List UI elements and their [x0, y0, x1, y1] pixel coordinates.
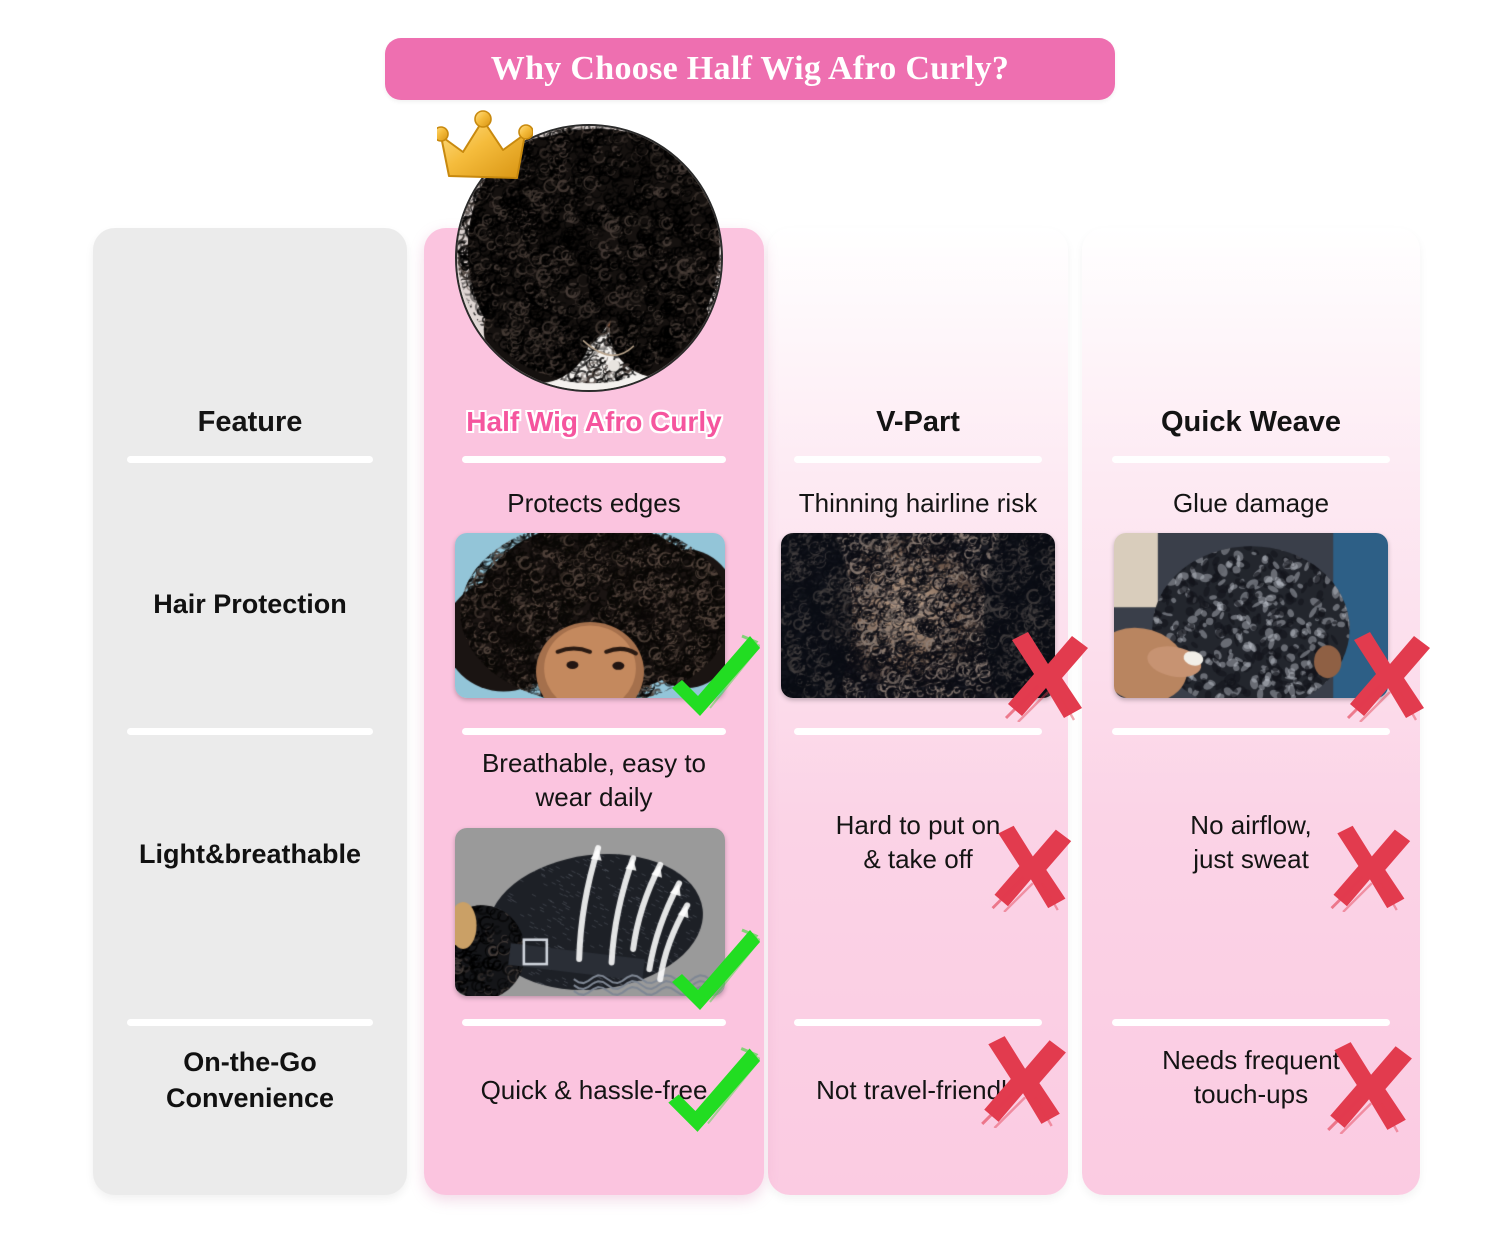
- row-label-light-breathable: Light&breathable: [93, 836, 407, 872]
- column-header-quick-weave: Quick Weave: [1082, 406, 1420, 439]
- row-separator: [462, 1019, 726, 1026]
- column-header-feature: Feature: [93, 406, 407, 439]
- check-icon: [664, 918, 760, 1014]
- check-icon: [664, 624, 760, 720]
- row-separator: [1112, 456, 1390, 463]
- row-label-on-the-go: On-the-GoConvenience: [93, 1044, 407, 1117]
- check-icon: [660, 1036, 760, 1136]
- row-separator: [1112, 728, 1390, 735]
- row-separator: [462, 456, 726, 463]
- comparison-table: Feature Hair Protection Light&breathable…: [0, 0, 1500, 1233]
- row-separator: [794, 728, 1042, 735]
- cross-icon: [1322, 820, 1414, 912]
- cross-icon: [1318, 1036, 1416, 1134]
- cross-icon: [972, 1030, 1070, 1128]
- cell-text-glue-damage: Glue damage: [1082, 486, 1420, 520]
- row-separator: [1112, 1019, 1390, 1026]
- row-separator: [127, 1019, 373, 1026]
- column-header-half-wig: Half Wig Afro Curly: [424, 406, 764, 438]
- row-separator: [462, 728, 726, 735]
- cross-icon: [996, 626, 1092, 722]
- avatar: [455, 124, 723, 392]
- row-separator: [127, 456, 373, 463]
- row-separator: [794, 456, 1042, 463]
- crown-icon: [437, 110, 533, 196]
- cross-icon: [983, 820, 1075, 912]
- cell-text-breathable: Breathable, easy towear daily: [424, 746, 764, 815]
- row-separator: [794, 1019, 1042, 1026]
- column-feature: Feature Hair Protection Light&breathable…: [93, 228, 407, 1195]
- column-header-v-part: V-Part: [768, 406, 1068, 439]
- row-separator: [127, 728, 373, 735]
- cross-icon: [1338, 626, 1434, 722]
- cell-text-thinning-hairline: Thinning hairline risk: [768, 486, 1068, 520]
- row-label-hair-protection: Hair Protection: [93, 586, 407, 622]
- cell-text-protects-edges: Protects edges: [424, 486, 764, 520]
